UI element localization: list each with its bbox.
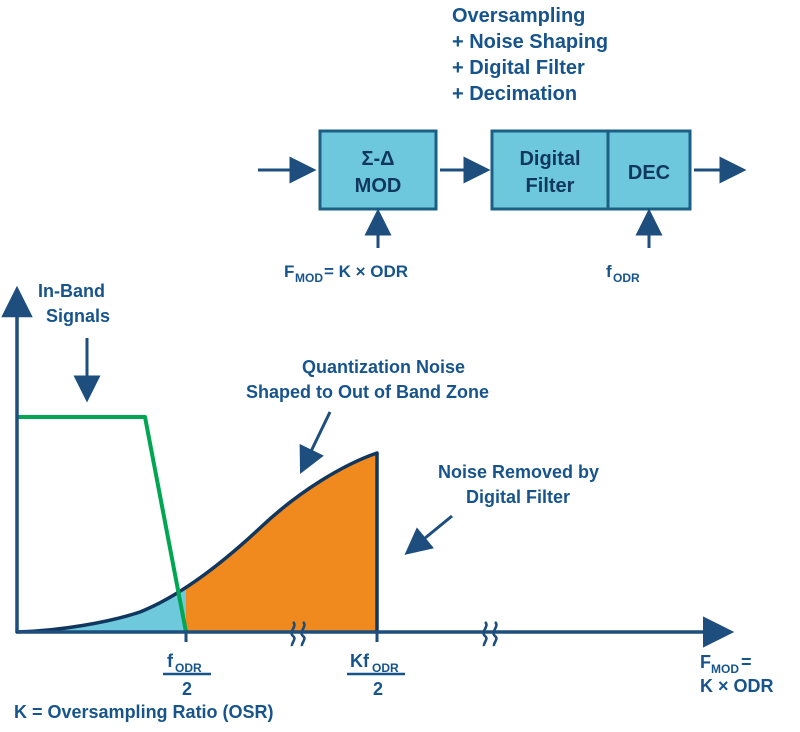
figure-caption: K = Oversampling Ratio (OSR) [14, 702, 274, 722]
x-axis-label-sub: MOD [711, 662, 739, 676]
digital-filter-label-line1: Digital [519, 148, 580, 170]
figure-canvas: Oversampling + Noise Shaping + Digital F… [0, 0, 800, 732]
annotation-quantization-noise: Quantization Noise Shaped to Out of Band… [246, 357, 489, 470]
header-line-3: + Digital Filter [452, 57, 585, 79]
fodr-subscript: ODR [613, 271, 640, 285]
dec-label: DEC [628, 162, 670, 184]
header-line-4: + Decimation [452, 83, 577, 105]
block-digital-filter-dec[interactable]: Digital Filter DEC [492, 131, 690, 209]
modulator-label-line2: MOD [355, 175, 402, 197]
x-axis-label-base: F [700, 652, 711, 672]
in-band-label-line2: Signals [46, 306, 110, 326]
in-band-label-line1: In-Band [38, 281, 105, 301]
header-line-1: Oversampling [452, 5, 585, 27]
annotation-noise-removed: Noise Removed by Digital Filter [408, 462, 599, 552]
diagram-svg: Oversampling + Noise Shaping + Digital F… [0, 0, 800, 732]
noise-removed-pointer-arrow [408, 516, 452, 552]
kfodr-numerator-base: Kf [350, 651, 370, 671]
axis-break-2 [484, 622, 497, 646]
quantization-noise-pointer-arrow [302, 412, 330, 470]
modulator-label-line1: Σ-Δ [361, 148, 394, 170]
x-axis-label: F MOD = K × ODR [700, 652, 774, 696]
fmod-clock-label: F MOD = K × ODR [284, 262, 408, 285]
tick-label-kfodr-over-2: Kf ODR 2 [347, 651, 405, 699]
modulator-box [320, 131, 436, 209]
quantization-noise-line1: Quantization Noise [302, 357, 465, 377]
block-diagram: Σ-Δ MOD Digital Filter DEC F MOD [258, 131, 742, 285]
annotation-in-band-signals: In-Band Signals [38, 281, 110, 398]
in-band-signal-curve [17, 417, 186, 632]
noise-removed-line1: Noise Removed by [438, 462, 599, 482]
fmod-subscript: MOD [295, 271, 323, 285]
tick-label-fodr-over-2: f ODR 2 [163, 651, 211, 699]
fodr-numerator-base: f [167, 651, 174, 671]
plot-area: f ODR 2 Kf ODR 2 F MOD = K × ODR [17, 291, 774, 699]
header-line-2: + Noise Shaping [452, 31, 608, 53]
block-modulator[interactable]: Σ-Δ MOD [320, 131, 436, 209]
kfodr-denominator: 2 [373, 679, 383, 699]
noise-removed-line2: Digital Filter [466, 487, 570, 507]
x-axis-label-line2: K × ODR [700, 676, 774, 696]
fmod-base: F [284, 262, 294, 281]
digital-filter-label-line2: Filter [526, 175, 575, 197]
quantization-noise-line2: Shaped to Out of Band Zone [246, 382, 489, 402]
x-axis-label-rest: = [741, 652, 752, 672]
fodr-clock-label: f ODR [606, 262, 640, 285]
fmod-rest: = K × ODR [324, 262, 408, 281]
fodr-denominator: 2 [182, 679, 192, 699]
fodr-base: f [606, 262, 612, 281]
header-text-block: Oversampling + Noise Shaping + Digital F… [452, 5, 608, 105]
